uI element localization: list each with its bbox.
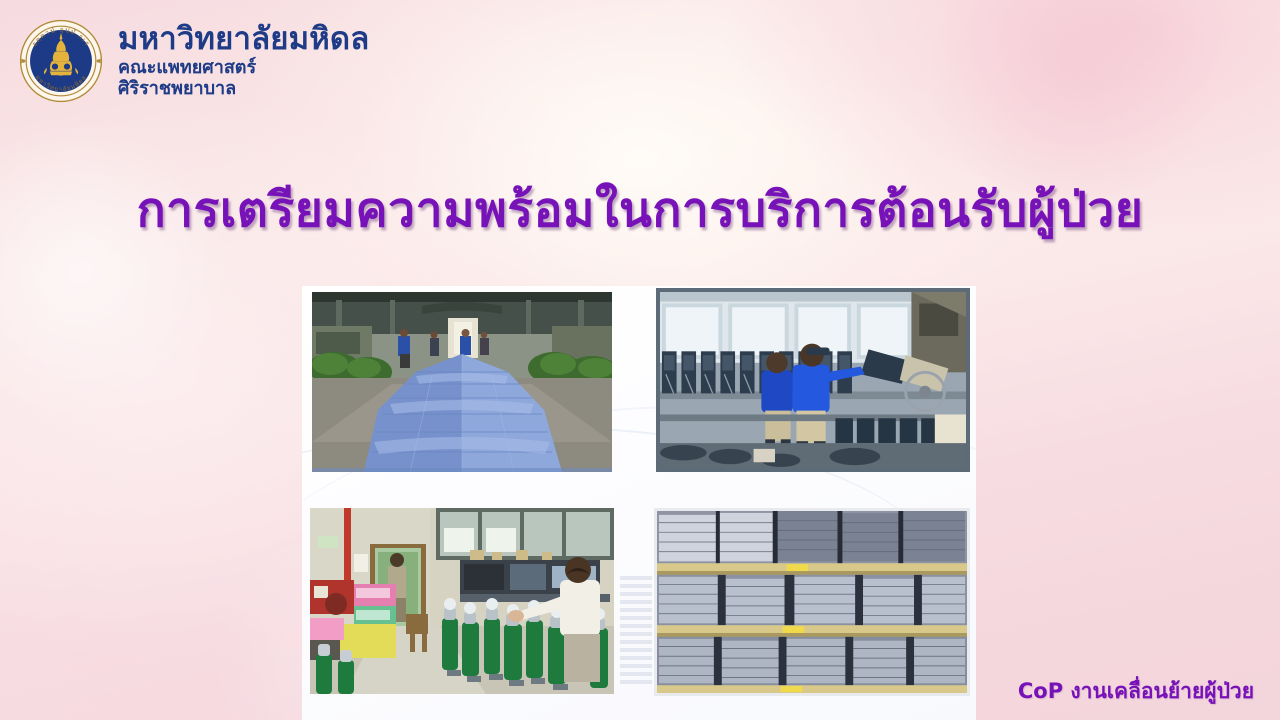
- photo-top-left: [312, 292, 612, 472]
- brand-hospital-name: ศิริราชพยาบาล: [118, 80, 369, 98]
- footer-cop-label: CoP งานเคลื่อนย้ายผู้ป่วย: [1018, 675, 1254, 708]
- background-blob-top-right: [910, 0, 1240, 200]
- background-blob-left: [0, 120, 230, 420]
- brand-header: อตฺตานํ อุปมํ กเร มหาวิทยาลัยมหิดล: [18, 18, 369, 104]
- photo-bottom-left: [310, 508, 614, 694]
- mahidol-university-seal-icon: อตฺตานํ อุปมํ กเร มหาวิทยาลัยมหิดล: [18, 18, 104, 104]
- photo-bottom-right: [654, 508, 970, 696]
- brand-text-block: มหาวิทยาลัยมหิดล คณะแพทยศาสตร์ ศิริราชพย…: [118, 18, 369, 98]
- shelf-slats-artifact: [620, 576, 652, 684]
- presentation-slide: อตฺตานํ อุปมํ กเร มหาวิทยาลัยมหิดล: [0, 0, 1280, 720]
- photo-collage-panel: [302, 286, 976, 720]
- photo-top-right: [656, 288, 970, 472]
- slide-title: การเตรียมความพร้อมในการบริการต้อนรับผู้ป…: [0, 172, 1280, 248]
- brand-faculty-name: คณะแพทยศาสตร์: [118, 59, 369, 77]
- brand-university-name: มหาวิทยาลัยมหิดล: [118, 24, 369, 56]
